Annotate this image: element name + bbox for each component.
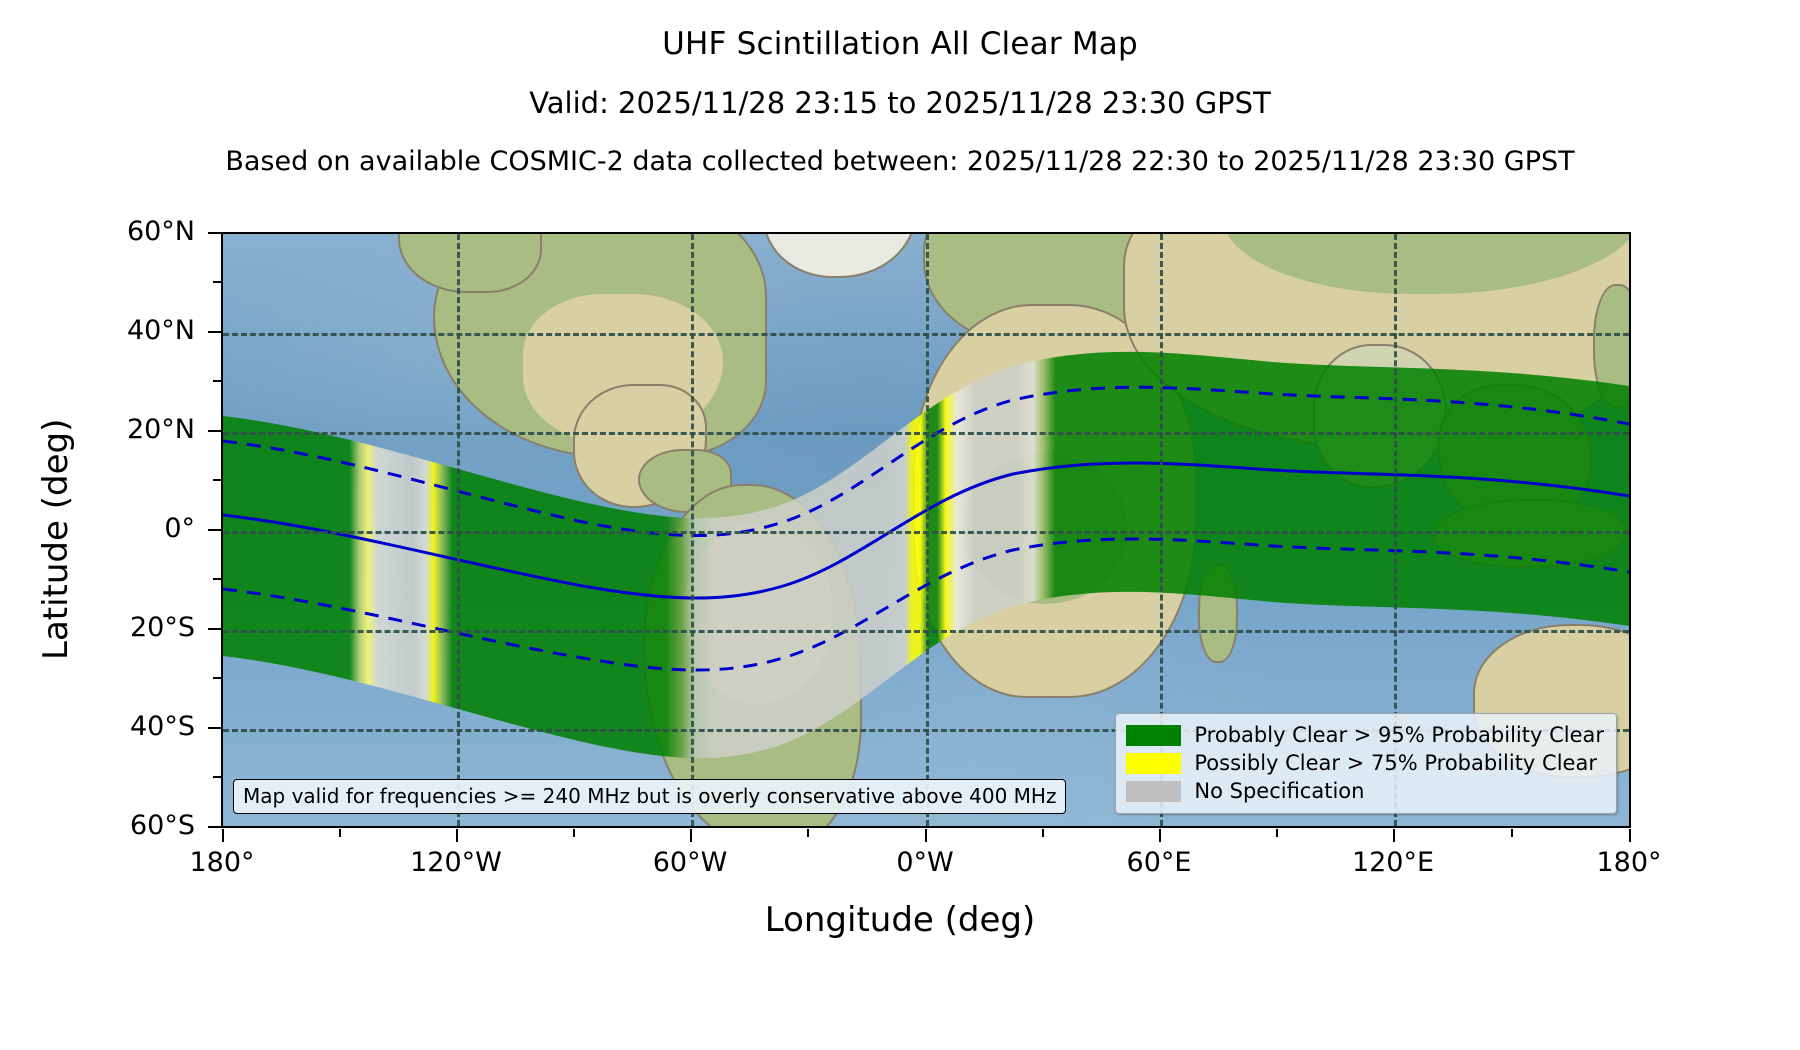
x-tick-minor-2 [573,829,575,837]
y-tick-label-40n: 40°N [40,317,195,344]
legend-swatch-no-specification [1126,781,1181,802]
x-tick-120w [456,829,458,842]
x-tick-label-180w: 180° [122,849,322,876]
y-tick-label-40s: 40°S [40,713,195,740]
x-tick-minor-3 [807,829,809,837]
southern-crest-line [223,539,1629,670]
y-tick-minor-3 [213,479,221,481]
legend-swatch-probably-clear [1126,725,1181,746]
x-tick-120e [1393,829,1395,842]
legend-item-no-specification: No Specification [1126,777,1604,805]
y-tick-minor-4 [213,578,221,580]
legend-item-possibly-clear: Possibly Clear > 75% Probability Clear [1126,749,1604,777]
x-tick-label-60e: 60°E [1059,849,1259,876]
y-tick-minor-2 [213,380,221,382]
legend-label-possibly-clear: Possibly Clear > 75% Probability Clear [1194,751,1597,775]
y-tick-minor-1 [213,281,221,283]
y-tick-40s [208,727,221,729]
y-tick-40n [208,331,221,333]
x-tick-minor-5 [1276,829,1278,837]
x-tick-minor-6 [1511,829,1513,837]
title-block: UHF Scintillation All Clear Map Valid: 2… [0,0,1800,177]
northern-crest-line [223,387,1629,535]
x-tick-label-120e: 120°E [1293,849,1493,876]
x-tick-label-60w: 60°W [590,849,790,876]
map-plot-area[interactable]: Probably Clear > 95% Probability Clear P… [221,232,1631,828]
frequency-validity-note: Map valid for frequencies >= 240 MHz but… [233,779,1066,814]
y-tick-60n [208,232,221,234]
magnetic-equator-line [223,463,1629,598]
y-tick-minor-6 [213,776,221,778]
y-tick-20n [208,430,221,432]
valid-period-subtitle: Valid: 2025/11/28 23:15 to 2025/11/28 23… [0,86,1800,120]
x-tick-60e [1159,829,1161,842]
map-legend[interactable]: Probably Clear > 95% Probability Clear P… [1115,713,1617,814]
x-tick-minor-1 [339,829,341,837]
x-tick-label-0: 0°W [825,849,1025,876]
scintillation-map-figure: UHF Scintillation All Clear Map Valid: 2… [0,0,1800,1050]
y-tick-20s [208,628,221,630]
x-axis-title: Longitude (deg) [0,900,1800,940]
x-tick-label-180e: 180° [1529,849,1729,876]
x-tick-0 [925,829,927,842]
y-axis-title: Latitude (deg) [36,419,76,660]
y-tick-minor-5 [213,677,221,679]
x-tick-minor-4 [1042,829,1044,837]
y-tick-label-60s: 60°S [40,812,195,839]
x-tick-60w [690,829,692,842]
legend-item-probably-clear: Probably Clear > 95% Probability Clear [1126,721,1604,749]
legend-swatch-possibly-clear [1126,753,1181,774]
legend-label-no-specification: No Specification [1194,779,1364,803]
x-tick-label-120w: 120°W [356,849,556,876]
x-tick-180e [1629,829,1631,842]
page-title: UHF Scintillation All Clear Map [0,26,1800,62]
y-tick-0 [208,529,221,531]
x-tick-180w [222,829,224,842]
legend-label-probably-clear: Probably Clear > 95% Probability Clear [1194,723,1604,747]
y-tick-label-60n: 60°N [40,218,195,245]
data-source-subtitle: Based on available COSMIC-2 data collect… [0,146,1800,177]
y-tick-60s [208,826,221,828]
